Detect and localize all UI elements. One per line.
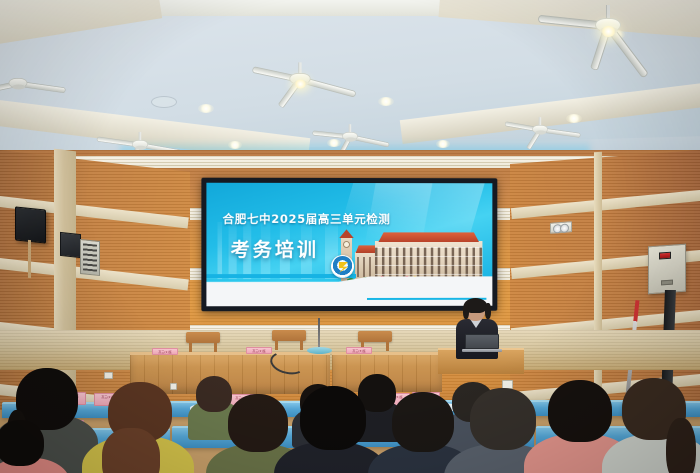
fan-light-icon <box>294 80 306 89</box>
slide-subheading: 考务培训 <box>231 235 319 262</box>
downlight-icon <box>198 104 214 113</box>
microphone-base-icon <box>307 347 332 354</box>
stage-name-card: 高三(3)班 <box>346 347 372 354</box>
ceiling <box>0 0 700 172</box>
person-head <box>0 420 44 466</box>
person-head <box>470 388 536 450</box>
microphone-stem <box>318 318 320 348</box>
downlight-icon <box>378 97 394 106</box>
presenter-hair-side <box>463 303 469 319</box>
control-cabinet-icon <box>648 244 686 295</box>
person-ponytail <box>666 418 696 473</box>
speaker-cable <box>28 240 31 278</box>
electrical-junction-box-icon <box>60 232 81 258</box>
stage-name-card: 高三(1)班 <box>152 348 178 355</box>
slide-footer-area <box>206 276 492 306</box>
presenter-hair-side <box>485 303 491 319</box>
stage-chair <box>358 331 392 342</box>
laptop-keyboard-base <box>462 349 502 352</box>
person-hair-fall <box>102 428 160 473</box>
lecture-hall-photo: 合肥七中2025届高三单元检测 考务培训 高三(1)班 高三(2)班 高三(3)… <box>0 0 700 473</box>
wall-stripe <box>511 190 700 219</box>
name-card-label: 高三(2)班 <box>247 349 271 353</box>
fan-light-icon <box>601 26 616 37</box>
cabinet-latch-icon <box>661 280 673 286</box>
fan-hub <box>342 132 358 140</box>
emergency-light-icon <box>550 221 572 234</box>
wall-speaker-icon <box>15 206 46 243</box>
status-indicator-icon <box>659 252 671 260</box>
wall-outlet-icon <box>104 372 113 379</box>
laptop-icon <box>462 334 502 352</box>
stage-chair <box>272 330 306 341</box>
name-card-label: 高三(3)班 <box>347 349 371 353</box>
laptop-screen <box>465 334 499 349</box>
fan-hub <box>9 78 28 88</box>
person-head <box>548 380 612 442</box>
right-wall-corner-trim <box>594 152 602 411</box>
person-head <box>196 376 232 412</box>
school-crest-logo-icon <box>331 255 354 278</box>
open-distribution-panel-icon <box>80 239 100 276</box>
downlight-icon <box>327 139 341 147</box>
fan-hub <box>532 125 548 133</box>
fan-hub <box>132 140 148 149</box>
stage-name-card: 高三(2)班 <box>246 347 272 354</box>
person-head <box>228 394 288 452</box>
person-head <box>392 392 454 452</box>
slide-campus-illustration <box>339 219 488 281</box>
ceiling-vent-ring <box>151 96 177 108</box>
clock-face-icon <box>343 241 350 248</box>
name-card-label: 高三(1)班 <box>153 350 177 354</box>
wall-outlet-icon <box>170 383 177 390</box>
downlight-icon <box>228 141 242 149</box>
projection-screen[interactable]: 合肥七中2025届高三单元检测 考务培训 <box>201 178 497 312</box>
screen-display-area: 合肥七中2025届高三单元检测 考务培训 <box>206 183 492 307</box>
slide-heading: 合肥七中2025届高三单元检测 <box>223 211 391 227</box>
downlight-icon <box>436 140 450 148</box>
person-head <box>300 386 366 450</box>
downlight-icon <box>566 114 582 123</box>
stage-chair <box>186 332 220 343</box>
